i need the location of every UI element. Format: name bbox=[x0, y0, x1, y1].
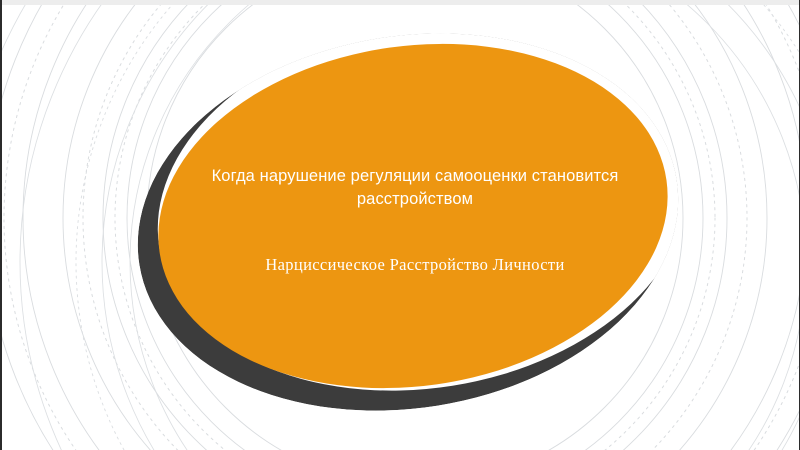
page-subtitle: Нарциссическое Расстройство Личности bbox=[168, 254, 662, 275]
slide-text-block: Когда нарушение регуляции самооценки ста… bbox=[168, 165, 662, 275]
left-edge bbox=[0, 0, 2, 450]
title-slide: Когда нарушение регуляции самооценки ста… bbox=[0, 0, 800, 450]
top-band bbox=[0, 0, 800, 5]
page-title: Когда нарушение регуляции самооценки ста… bbox=[168, 165, 662, 212]
